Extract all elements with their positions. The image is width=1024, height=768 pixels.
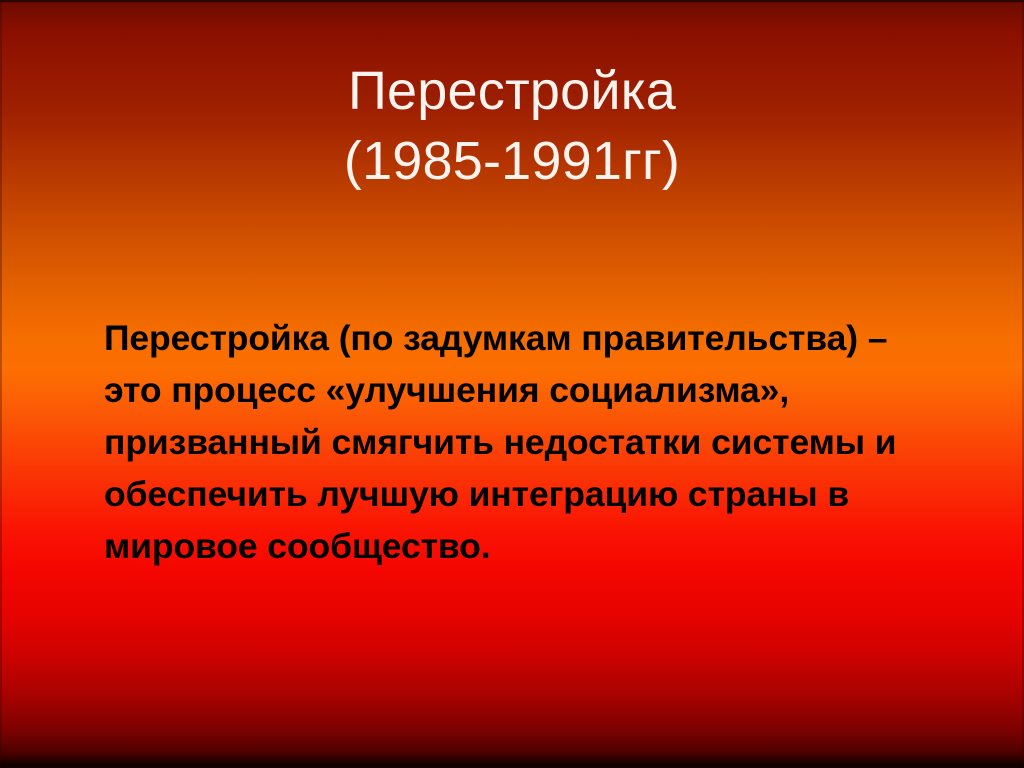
slide-title-line-2: (1985-1991гг) [0, 126, 1024, 196]
slide-body-line-4: обеспечить лучшую интеграцию страны в [104, 468, 996, 520]
slide-title: Перестройка (1985-1991гг) [0, 56, 1024, 196]
slide-body-text: Перестройка (по задумкам правительства) … [104, 312, 996, 572]
slide-body-line-1: Перестройка (по задумкам правительства) … [104, 312, 996, 364]
slide-title-line-1: Перестройка [0, 56, 1024, 126]
slide-body-line-3: призванный смягчить недостатки системы и [104, 416, 996, 468]
presentation-slide: Перестройка (1985-1991гг) Перестройка (п… [0, 0, 1024, 768]
slide-body-line-2: это процесс «улучшения социализма», [104, 364, 996, 416]
slide-body-line-5: мировое сообщество. [104, 520, 996, 572]
